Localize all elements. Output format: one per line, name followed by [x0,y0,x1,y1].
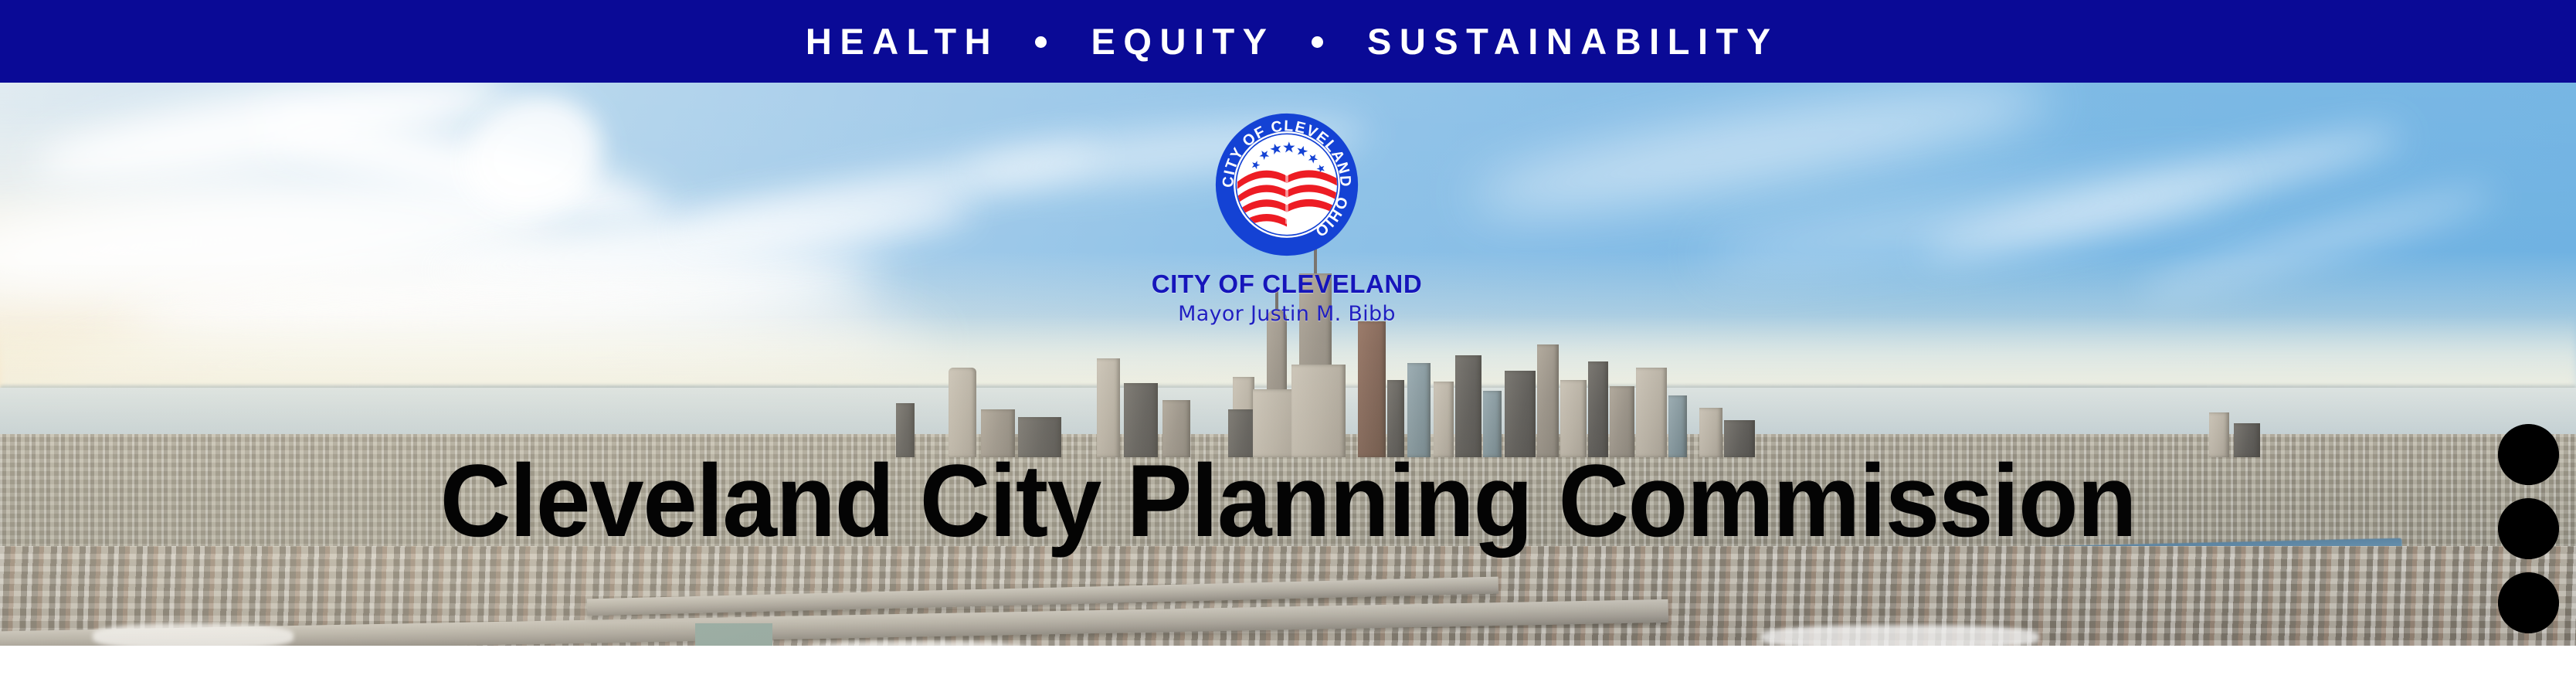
tagline-bullet-icon [1035,36,1047,48]
tagline-bullet-icon [1312,36,1323,48]
youtube-icon [2498,424,2559,485]
social-links [2498,424,2559,633]
tagline-word-health: HEALTH [797,23,999,59]
tagline-word-sustainability: SUSTAINABILITY [1359,23,1779,59]
city-of-cleveland-seal-icon: CITY OF CLEVELAND OHIO [1214,112,1359,257]
bottom-white-strip [0,646,2576,682]
city-identity-block: CITY OF CLEVELAND OHIO [1016,112,1557,325]
tagline-banner: HEALTH EQUITY SUSTAINABILITY [0,0,2576,83]
instagram-link[interactable] [2498,498,2559,559]
snow-patch [93,623,294,646]
building [1097,358,1120,457]
200-public-square [1358,321,1386,457]
building [1588,361,1608,457]
building [1407,363,1431,457]
facebook-link[interactable] [2498,572,2559,633]
instagram-icon [2498,498,2559,559]
page-title: Cleveland City Planning Commission [58,450,2518,553]
building [1455,355,1481,457]
tagline-banner-inner: HEALTH EQUITY SUSTAINABILITY [797,0,1778,83]
building [1291,365,1346,457]
page-root: HEALTH EQUITY SUSTAINABILITY [0,0,2576,682]
building [1537,344,1559,457]
tagline-word-equity: EQUITY [1083,23,1274,59]
rooftop [695,623,772,646]
youtube-link[interactable] [2498,424,2559,485]
snow-patch [1761,625,2039,646]
facebook-icon [2498,572,2559,633]
mayor-name-label: Mayor Justin M. Bibb [1016,303,1557,326]
city-name-label: CITY OF CLEVELAND [1016,271,1557,298]
